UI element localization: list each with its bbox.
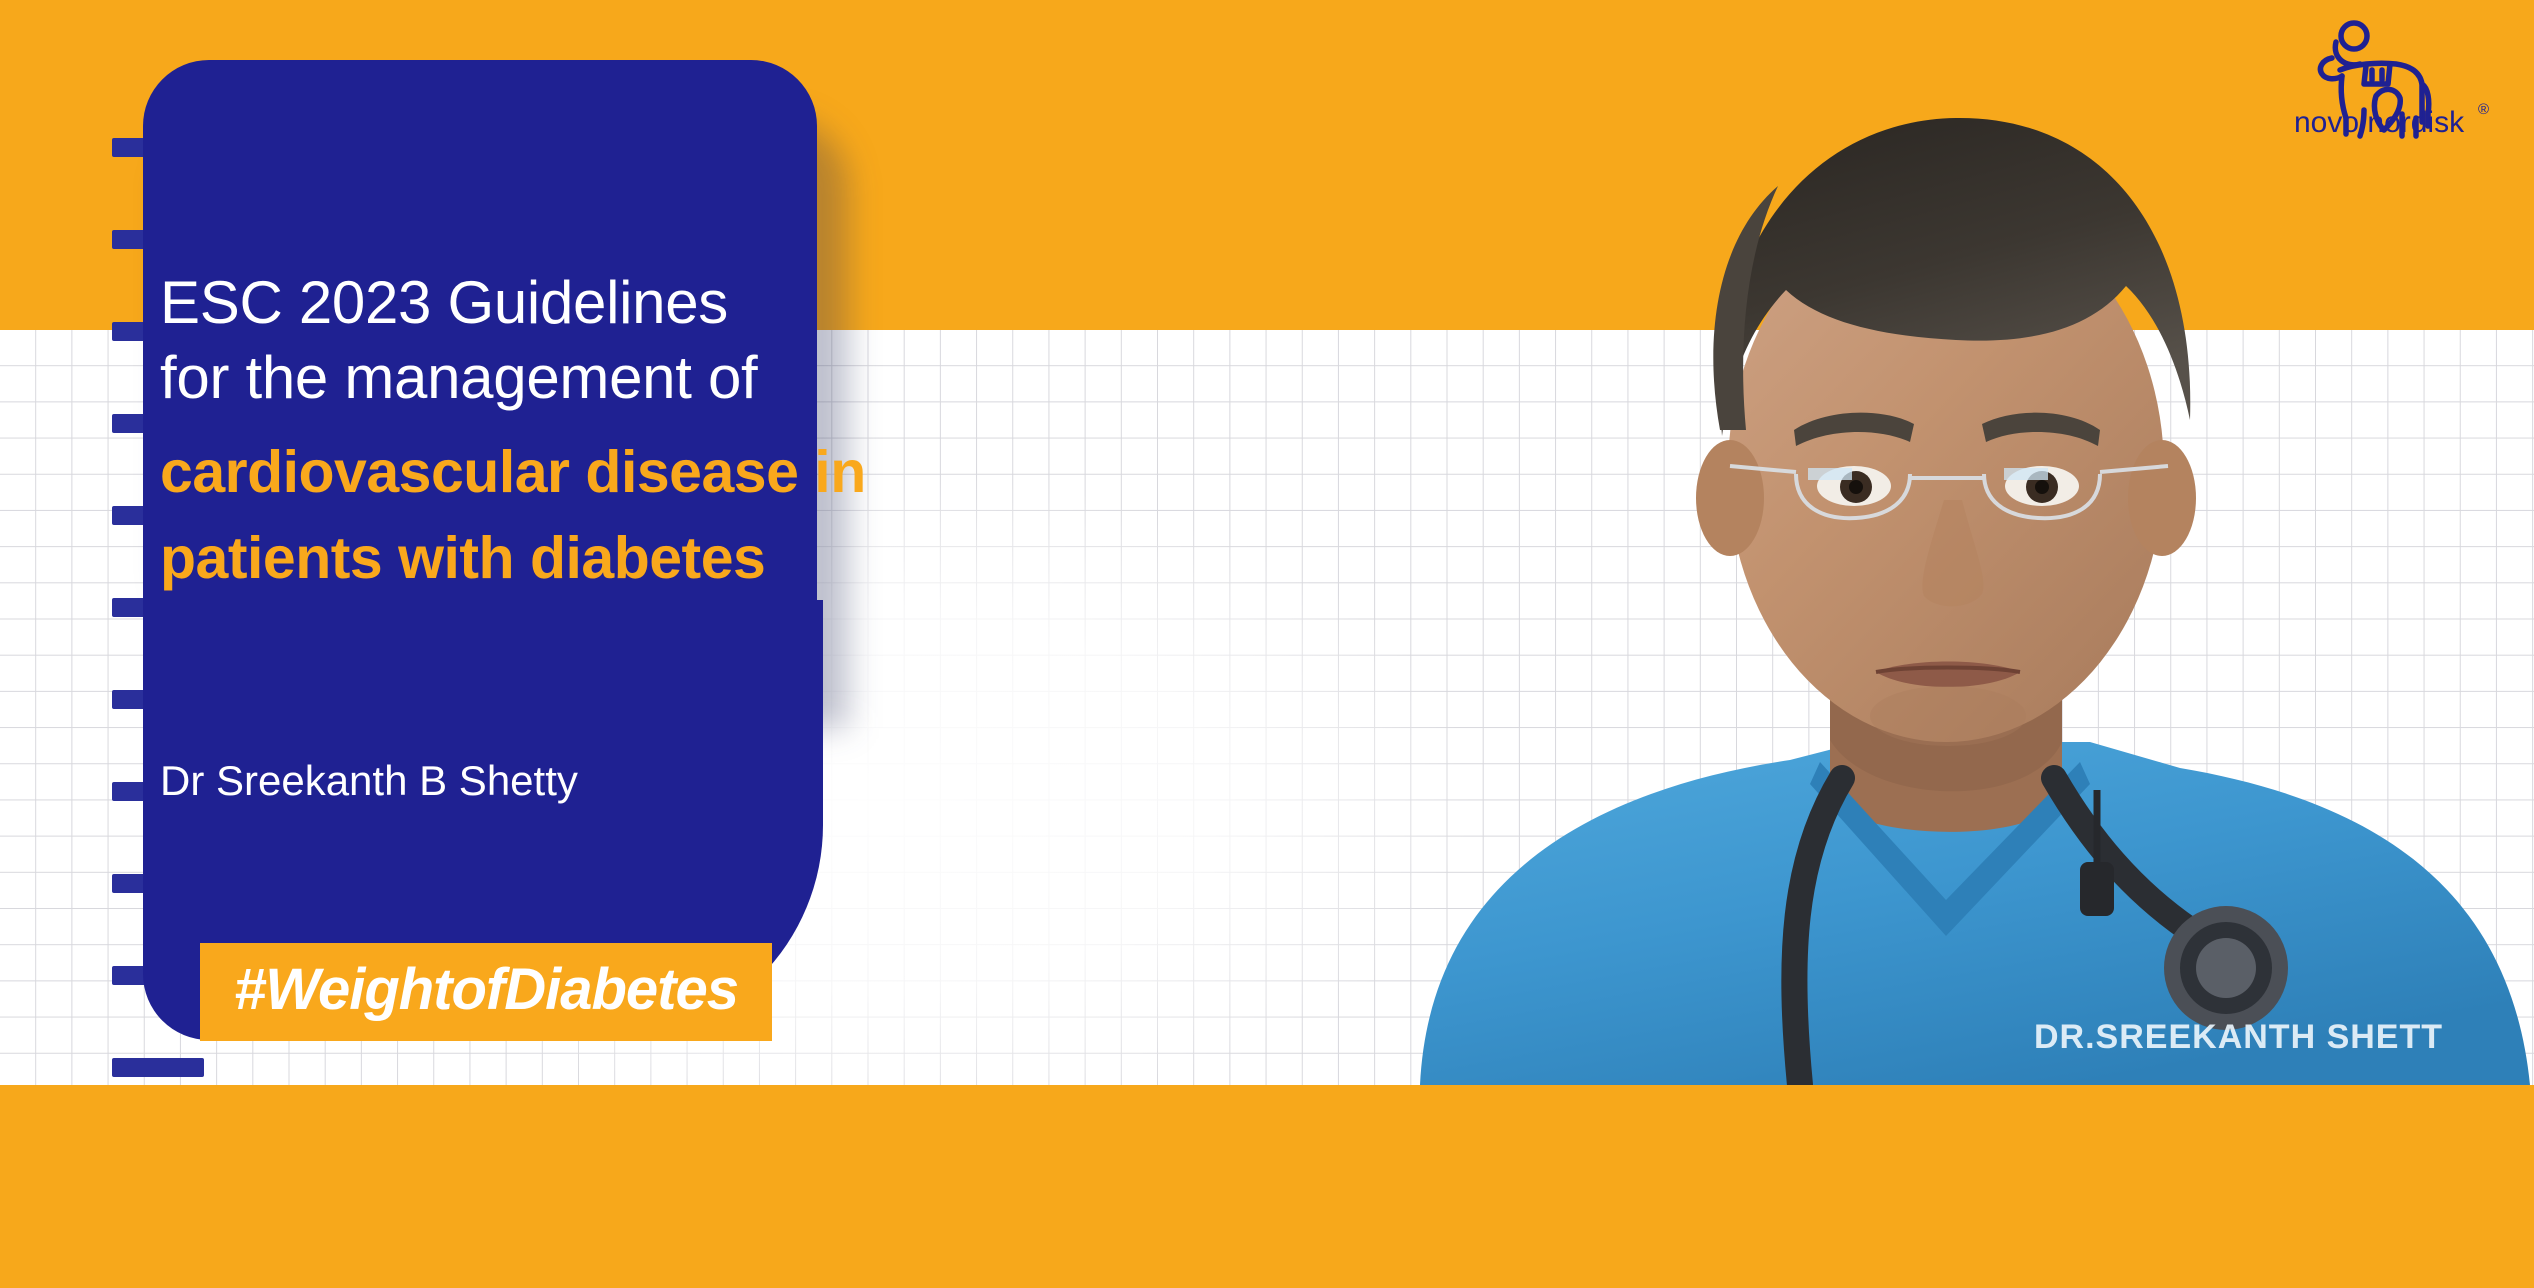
binding-rung bbox=[112, 1058, 204, 1077]
title-line-3: cardiovascular disease in bbox=[160, 429, 1210, 515]
page-title: ESC 2023 Guidelines for the management o… bbox=[160, 265, 1210, 601]
author-name: Dr Sreekanth B Shetty bbox=[160, 755, 578, 807]
novo-nordisk-logo: novo nordisk ® bbox=[2292, 14, 2512, 144]
promo-banner: DR.SREEKANTH SHETT ESC 2023 Guidelines f… bbox=[0, 0, 2534, 1288]
title-spacer bbox=[160, 415, 1210, 429]
registered-mark: ® bbox=[2478, 101, 2489, 118]
hashtag-label: #WeightofDiabetes bbox=[234, 959, 738, 1021]
title-line-2: for the management of bbox=[160, 340, 1210, 415]
doctor-portrait: DR.SREEKANTH SHETT bbox=[1390, 0, 2534, 1085]
hashtag-badge[interactable]: #WeightofDiabetes bbox=[200, 943, 772, 1041]
brand-wordmark: novo nordisk bbox=[2294, 106, 2465, 139]
title-line-1: ESC 2023 Guidelines bbox=[160, 265, 1210, 340]
title-line-4: patients with diabetes bbox=[160, 515, 1210, 601]
svg-text:DR.SREEKANTH SHETT: DR.SREEKANTH SHETT bbox=[2034, 1018, 2443, 1056]
